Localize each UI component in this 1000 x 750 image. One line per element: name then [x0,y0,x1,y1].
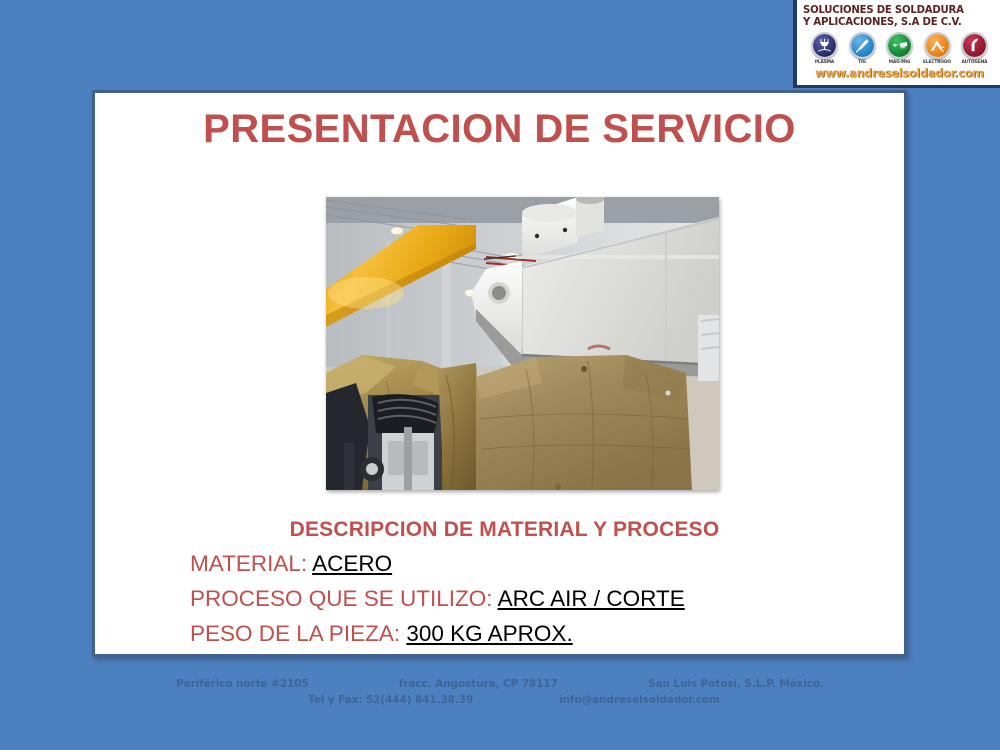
slide-footer: Periférico norte #2105 fracc. Angostura,… [0,678,1000,706]
autogena-icon [961,32,988,59]
mag-mig-icon [886,32,913,59]
description-block: DESCRIPCION DE MATERIAL Y PROCESO MATERI… [95,518,904,647]
material-label: MATERIAL: [190,551,307,576]
material-value: ACERO [312,551,392,576]
peso-label: PESO DE LA PIEZA: [190,621,400,646]
slide-content-card: PRESENTACION DE SERVICIO [92,90,907,657]
process-electrodo: ELECTRODO [919,32,955,65]
autogena-icon-label: AUTOGENA [962,60,988,65]
company-name-line-1: SOLUCIONES DE SOLDADURA [803,5,994,17]
process-tig: TIG [844,32,880,65]
welding-process-icon-row: PLASMA TIG [807,32,993,65]
process-plasma: PLASMA [807,32,843,65]
footer-street: Periférico norte #2105 [176,678,309,690]
peso-value: 300 KG APROX. [406,621,572,646]
proceso-label: PROCESO QUE SE UTILIZO: [190,586,493,611]
footer-fracc: fracc. Angostura, CP 78117 [399,678,558,690]
electrodo-icon-label: ELECTRODO [923,60,951,65]
footer-email[interactable]: info@andreselsoldador.com [559,694,720,706]
electrodo-icon [924,32,951,59]
company-name-line-2: Y APLICACIONES, S.A DE C.V. [803,17,994,29]
footer-city: San Luis Potosi, S.L.P. México. [648,678,824,690]
material-row: MATERIAL: ACERO [95,551,904,577]
company-logo-block: SOLUCIONES DE SOLDADURA Y APLICACIONES, … [793,0,1000,88]
footer-contact-row: Tel y Fax: 52(444) 841.38.39 info@andres… [0,694,1000,706]
plasma-icon-label: PLASMA [815,60,834,65]
industrial-equipment-photo [326,197,719,490]
process-mag-mig: MAG-MIG [882,32,918,65]
process-autogena: AUTOGENA [957,32,993,65]
tig-icon-label: TIG [858,60,866,65]
proceso-row: PROCESO QUE SE UTILIZO: ARC AIR / CORTE [95,586,904,612]
peso-row: PESO DE LA PIEZA: 300 KG APROX. [95,621,904,647]
proceso-value: ARC AIR / CORTE [498,586,685,611]
plasma-icon [811,32,838,59]
company-website[interactable]: www.andreselsoldador.com [815,66,984,80]
tig-icon [849,32,876,59]
mag-mig-icon-label: MAG-MIG [889,60,911,65]
footer-address-row: Periférico norte #2105 fracc. Angostura,… [0,678,1000,690]
footer-phone: Tel y Fax: 52(444) 841.38.39 [308,694,473,706]
description-heading: DESCRIPCION DE MATERIAL Y PROCESO [95,518,904,542]
page-title: PRESENTACION DE SERVICIO [95,107,904,152]
